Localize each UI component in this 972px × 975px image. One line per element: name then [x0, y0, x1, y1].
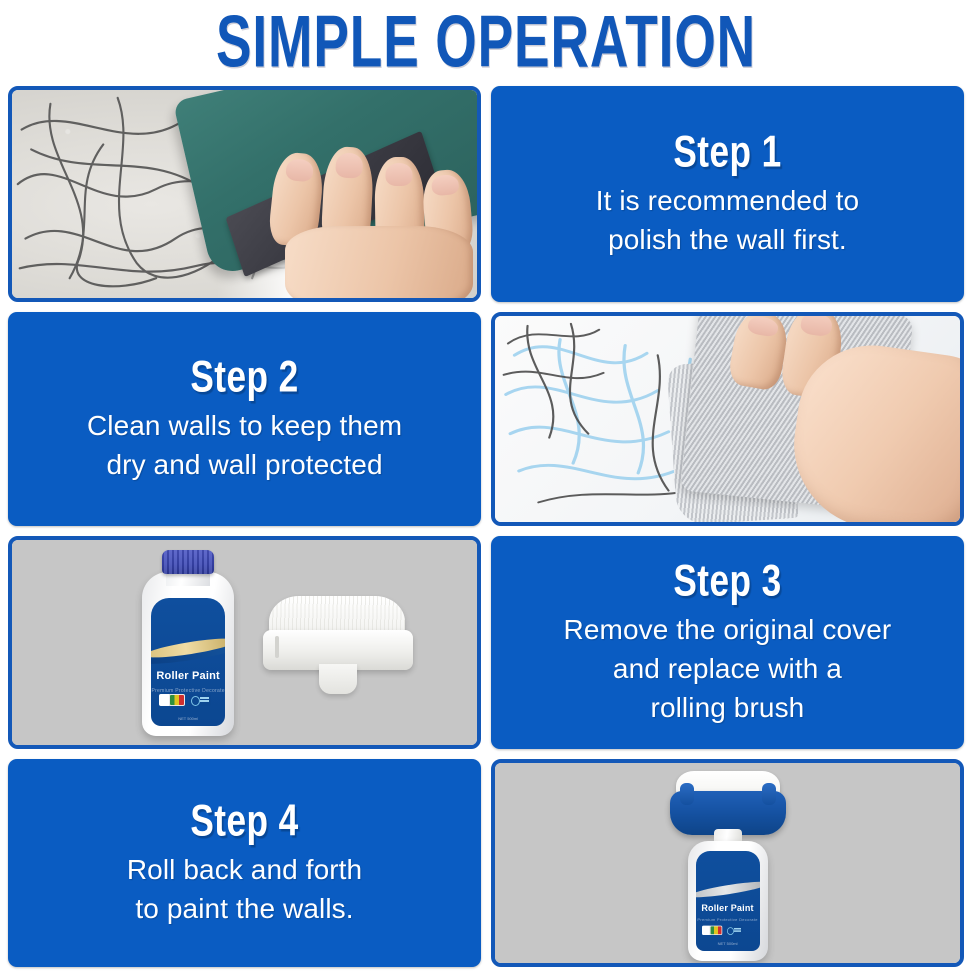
hand — [728, 316, 960, 522]
product-footer: NET 500ml — [696, 941, 760, 946]
fingernail — [385, 162, 413, 186]
step-1-line-1: It is recommended to — [596, 181, 859, 220]
step-row-1: Step 1 It is recommended to polish the w… — [8, 86, 964, 302]
step-4-line-2: to paint the walls. — [127, 889, 362, 928]
product-subtitle: Premium Protective Decorate — [696, 917, 760, 922]
bottle-label: Roller Paint Premium Protective Decorate… — [151, 598, 225, 726]
label-badges — [159, 694, 211, 706]
step-1-description: It is recommended to polish the wall fir… — [596, 181, 859, 259]
step-row-4: Step 4 Roll back and forth to paint the … — [8, 759, 964, 967]
steps-container: Step 1 It is recommended to polish the w… — [0, 86, 972, 975]
step-2-line-1: Clean walls to keep them — [87, 406, 402, 445]
step-2-text-panel: Step 2 Clean walls to keep them dry and … — [8, 312, 481, 526]
scene-sanding — [12, 90, 477, 298]
step-1-line-2: polish the wall first. — [596, 220, 859, 259]
finger-index — [727, 316, 791, 392]
bottle-body: Roller Paint Premium Protective Decorate… — [688, 841, 768, 961]
step-4-text-panel: Step 4 Roll back and forth to paint the … — [8, 759, 481, 967]
scene-wiping — [495, 316, 960, 522]
step-1-heading: Step 1 — [673, 126, 781, 178]
step-row-2: Step 2 Clean walls to keep them dry and … — [8, 312, 964, 526]
step-2-description: Clean walls to keep them dry and wall pr… — [87, 406, 402, 484]
rating-badge-icon — [702, 926, 722, 935]
bottle-cap — [162, 550, 214, 574]
certification-badge-icon — [725, 926, 742, 935]
step-3-image: Roller Paint Premium Protective Decorate… — [8, 536, 481, 749]
step-4-heading: Step 4 — [190, 795, 298, 847]
product-subtitle: Premium Protective Decorate — [151, 688, 225, 694]
step-3-text-panel: Step 3 Remove the original cover and rep… — [491, 536, 964, 749]
step-4-image: Roller Paint Premium Protective Decorate… — [491, 759, 964, 967]
fingernail — [431, 174, 459, 196]
page-title: SIMPLE OPERATION — [216, 6, 756, 79]
label-swoosh-silver — [696, 879, 760, 901]
step-4-line-1: Roll back and forth — [127, 850, 362, 889]
step-1-image — [8, 86, 481, 302]
step-3-line-3: rolling brush — [564, 688, 892, 727]
step-2-image — [491, 312, 964, 526]
paint-bottle: Roller Paint Premium Protective Decorate… — [142, 550, 234, 736]
infographic-page: SIMPLE OPERATION — [0, 0, 972, 973]
roller-stem — [319, 664, 357, 694]
step-1-text-panel: Step 1 It is recommended to polish the w… — [491, 86, 964, 302]
step-2-line-2: dry and wall protected — [87, 445, 402, 484]
bottle-label: Roller Paint Premium Protective Decorate… — [696, 851, 760, 951]
step-4-description: Roll back and forth to paint the walls. — [127, 850, 362, 928]
roller-brush-cover — [263, 596, 413, 700]
step-3-heading: Step 3 — [673, 555, 781, 607]
step-3-line-1: Remove the original cover — [564, 610, 892, 649]
step-3-line-2: and replace with a — [564, 649, 892, 688]
fingernail — [335, 152, 364, 178]
scene-assembled: Roller Paint Premium Protective Decorate… — [495, 763, 960, 963]
step-row-3: Roller Paint Premium Protective Decorate… — [8, 536, 964, 749]
product-name: Roller Paint — [696, 903, 760, 913]
hand — [263, 140, 477, 298]
step-2-heading: Step 2 — [190, 351, 298, 403]
assembled-paint-roller: Roller Paint Premium Protective Decorate… — [662, 771, 794, 963]
fingernail — [799, 316, 832, 337]
step-3-description: Remove the original cover and replace wi… — [564, 610, 892, 727]
hand-palm — [285, 226, 472, 298]
scene-bottle-and-cover: Roller Paint Premium Protective Decorate… — [12, 540, 477, 745]
product-name: Roller Paint — [151, 670, 225, 682]
product-footer: NET 500ml — [151, 716, 225, 721]
header-banner: SIMPLE OPERATION — [0, 0, 972, 86]
fingernail — [285, 158, 315, 183]
fingernail — [747, 316, 779, 338]
label-badges — [702, 926, 743, 935]
certification-badge-icon — [189, 694, 211, 706]
rating-badge-icon — [159, 694, 185, 706]
